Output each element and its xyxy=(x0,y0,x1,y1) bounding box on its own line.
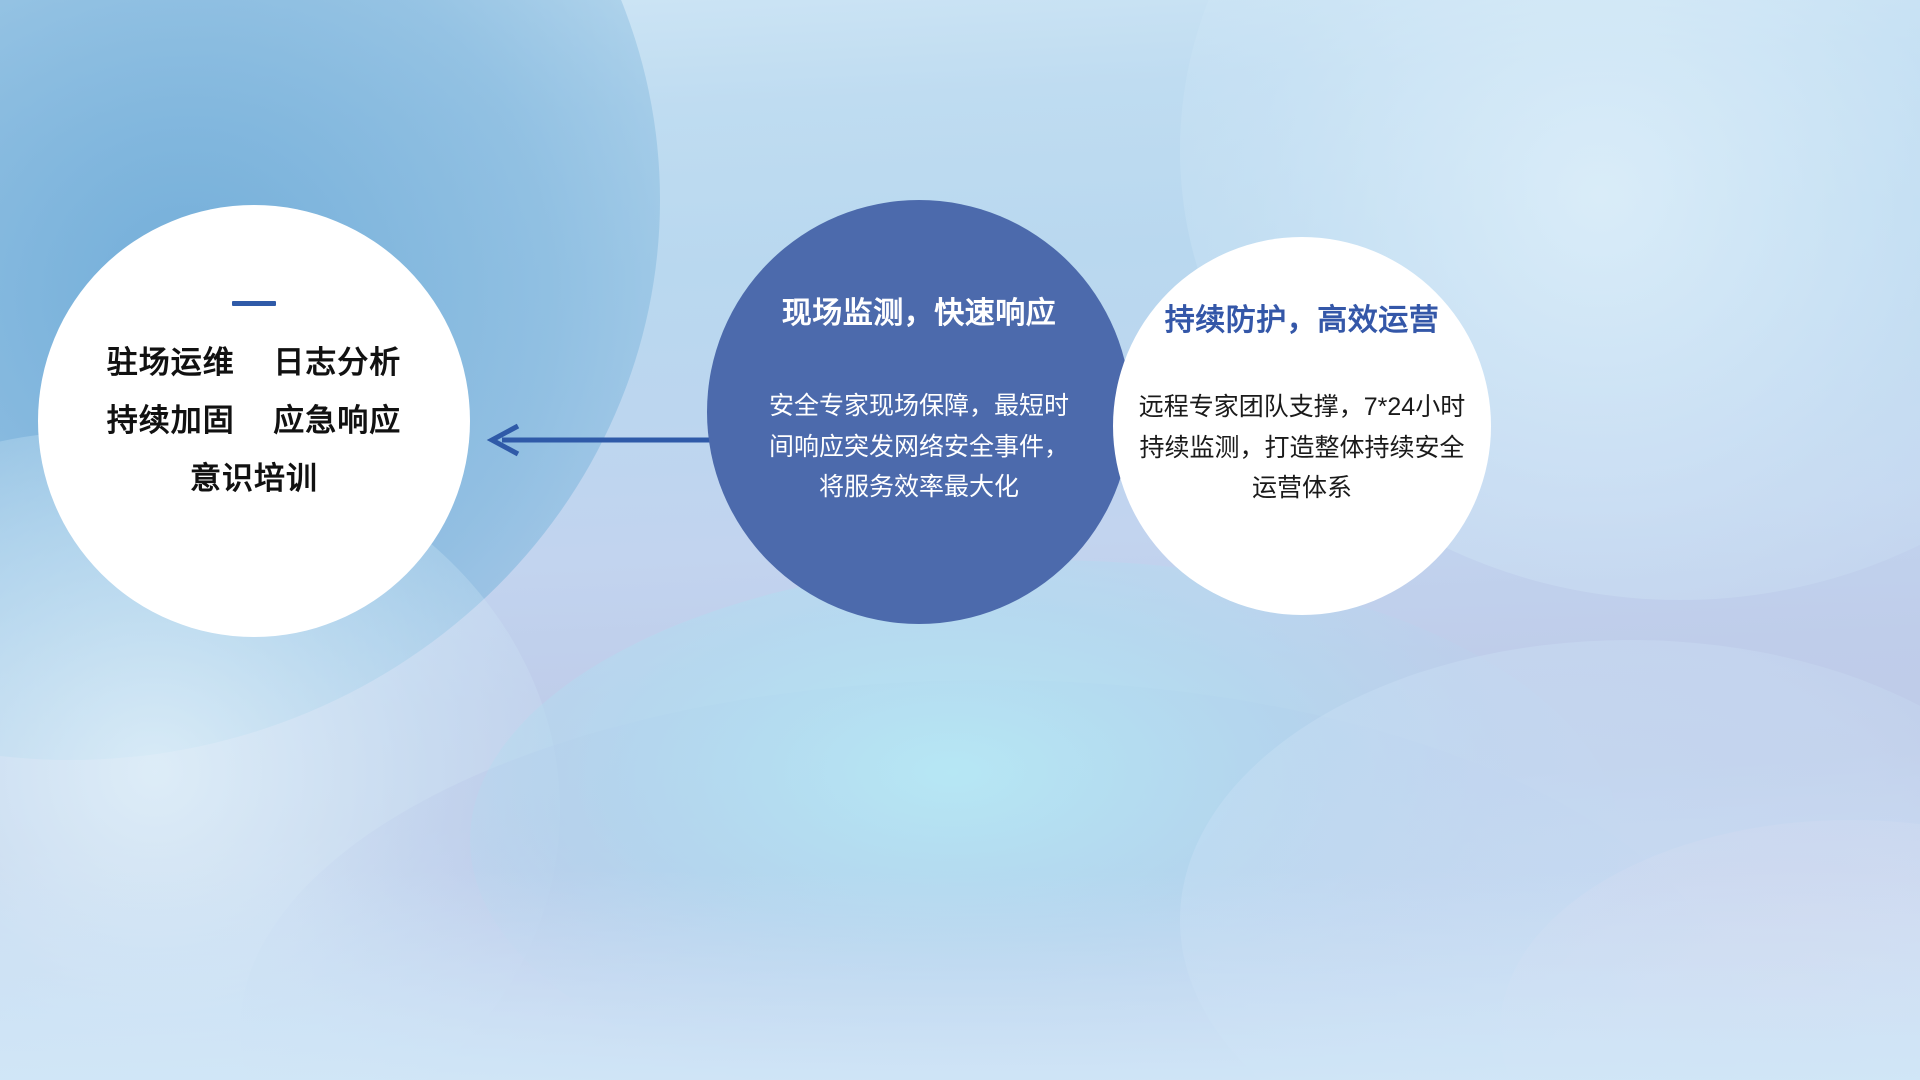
onsite-circle[interactable]: 现场监测，快速响应 安全专家现场保障，最短时间响应突发网络安全事件，将服务效率最… xyxy=(707,200,1131,624)
capabilities-line-2: 持续加固 应急响应 xyxy=(107,404,401,438)
capabilities-line-3: 意识培训 xyxy=(190,462,318,496)
divider-dash xyxy=(232,301,276,306)
capabilities-line-1: 驻场运维 日志分析 xyxy=(107,346,401,380)
onsite-body: 安全专家现场保障，最短时间响应突发网络安全事件，将服务效率最大化 xyxy=(769,386,1069,508)
arrow-left-icon xyxy=(480,410,720,470)
capabilities-circle[interactable]: 驻场运维 日志分析 持续加固 应急响应 意识培训 xyxy=(38,205,470,637)
onsite-title: 现场监测，快速响应 xyxy=(782,288,1057,332)
slide-canvas: 驻场运维 日志分析 持续加固 应急响应 意识培训 现场监测，快速响应 安全专家现… xyxy=(0,0,1920,1080)
continuous-circle[interactable]: 持续防护，高效运营 远程专家团队支撑，7*24小时持续监测，打造整体持续安全运营… xyxy=(1113,237,1491,615)
continuous-title: 持续防护，高效运营 xyxy=(1165,295,1440,339)
continuous-body: 远程专家团队支撑，7*24小时持续监测，打造整体持续安全运营体系 xyxy=(1137,387,1467,509)
capabilities-list: 驻场运维 日志分析 持续加固 应急响应 意识培训 xyxy=(107,346,401,496)
background-bottom-fade xyxy=(0,870,1920,1080)
connector-arrow xyxy=(480,410,720,470)
